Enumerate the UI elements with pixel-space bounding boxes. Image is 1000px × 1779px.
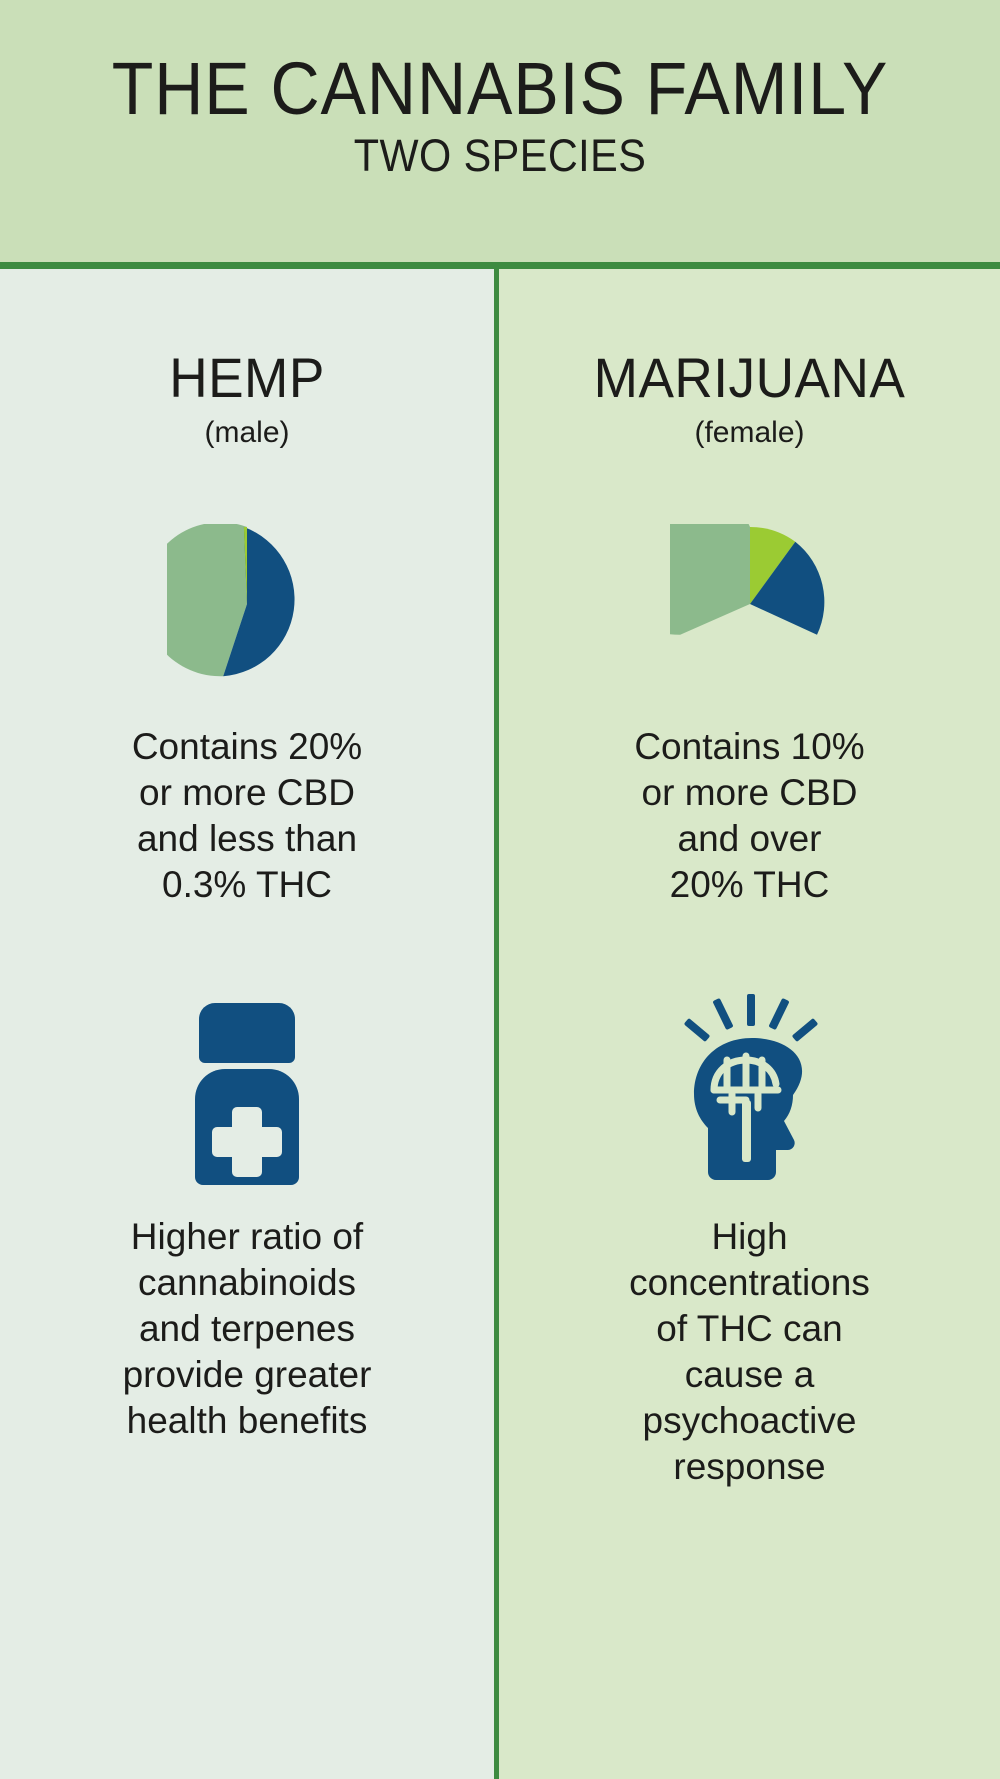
stat-text-marijuana: Contains 10% or more CBD and over 20% TH… [499,724,1000,908]
medicine-bottle-icon [177,999,317,1189]
page-subtitle: TWO SPECIES [40,130,960,182]
column-marijuana: MARIJUANA (female) Contains 10% or more … [499,269,1000,1779]
column-subtitle-marijuana: (female) [499,415,1000,451]
brain-head-icon [670,994,830,1189]
column-title-hemp: HEMP [12,347,481,409]
column-title-marijuana: MARIJUANA [512,347,988,409]
infographic-root: THE CANNABIS FAMILY TWO SPECIES HEMP (ma… [0,0,1000,1779]
pie-chart-hemp [167,524,327,684]
benefit-text-marijuana: High concentrations of THC can cause a p… [499,1214,1000,1490]
icon-wrap-marijuana [499,989,1000,1189]
pie-chart-marijuana-wrap [499,524,1000,684]
column-hemp: HEMP (male) Contains 20% or more CBD and… [0,269,494,1779]
column-subtitle-hemp: (male) [0,415,494,451]
pie-chart-hemp-wrap [0,524,494,684]
pie-chart-marijuana [670,524,830,684]
benefit-text-hemp: Higher ratio of cannabinoids and terpene… [0,1214,494,1444]
pie-slice-marijuana-other [670,524,750,635]
header-rule [0,262,1000,269]
stat-text-hemp: Contains 20% or more CBD and less than 0… [0,724,494,908]
icon-wrap-hemp [0,989,494,1189]
page-title: THE CANNABIS FAMILY [40,48,960,130]
header-banner: THE CANNABIS FAMILY TWO SPECIES [0,0,1000,262]
